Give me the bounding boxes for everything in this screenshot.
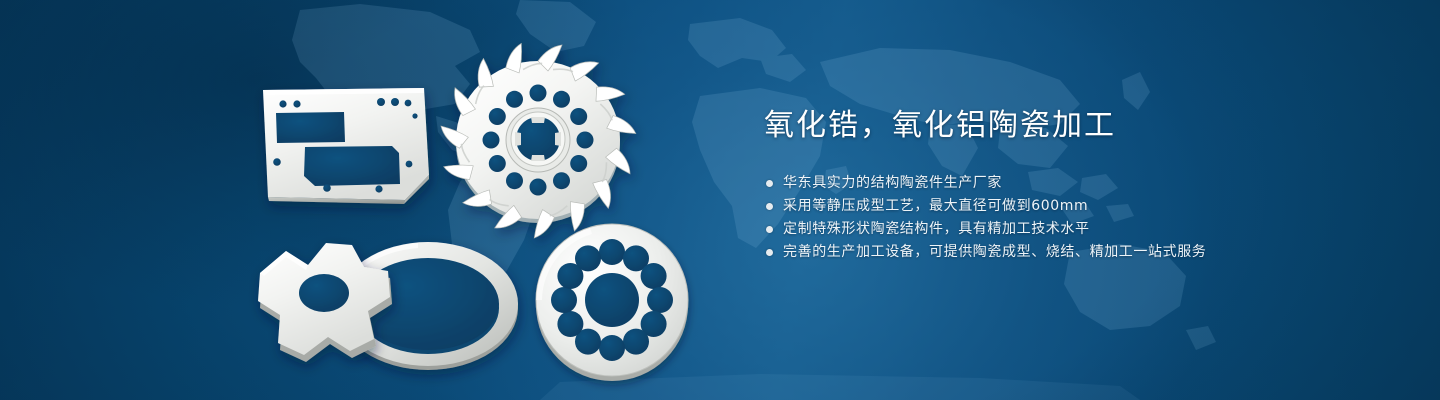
feature-list: 华东具实力的结构陶瓷件生产厂家 采用等静压成型工艺，最大直径可做到600mm 定… [764, 172, 1364, 263]
list-item: 采用等静压成型工艺，最大直径可做到600mm [764, 195, 1364, 217]
bullet-icon [766, 249, 773, 256]
ceramic-perforated-disc [536, 224, 688, 381]
list-item: 完善的生产加工设备，可提供陶瓷成型、烧结、精加工一站式服务 [764, 241, 1364, 263]
ceramic-promo-banner: 氧化锆，氧化铝陶瓷加工 华东具实力的结构陶瓷件生产厂家 采用等静压成型工艺，最大… [0, 0, 1440, 400]
list-item: 华东具实力的结构陶瓷件生产厂家 [764, 172, 1364, 194]
ceramic-impeller [441, 43, 636, 237]
bullet-icon [766, 203, 773, 210]
page-title: 氧化锆，氧化铝陶瓷加工 [764, 104, 1364, 148]
ceramic-plate [263, 88, 429, 204]
list-item: 定制特殊形状陶瓷结构件，具有精加工技术水平 [764, 218, 1364, 240]
list-item-label: 定制特殊形状陶瓷结构件，具有精加工技术水平 [783, 218, 1090, 240]
bullet-icon [766, 180, 773, 187]
list-item-label: 华东具实力的结构陶瓷件生产厂家 [783, 172, 1002, 194]
list-item-label: 采用等静压成型工艺，最大直径可做到600mm [783, 195, 1088, 217]
list-item-label: 完善的生产加工设备，可提供陶瓷成型、烧结、精加工一站式服务 [783, 241, 1206, 263]
banner-copy: 氧化锆，氧化铝陶瓷加工 华东具实力的结构陶瓷件生产厂家 采用等静压成型工艺，最大… [764, 104, 1364, 264]
bullet-icon [766, 226, 773, 233]
product-image-cluster [0, 0, 740, 400]
